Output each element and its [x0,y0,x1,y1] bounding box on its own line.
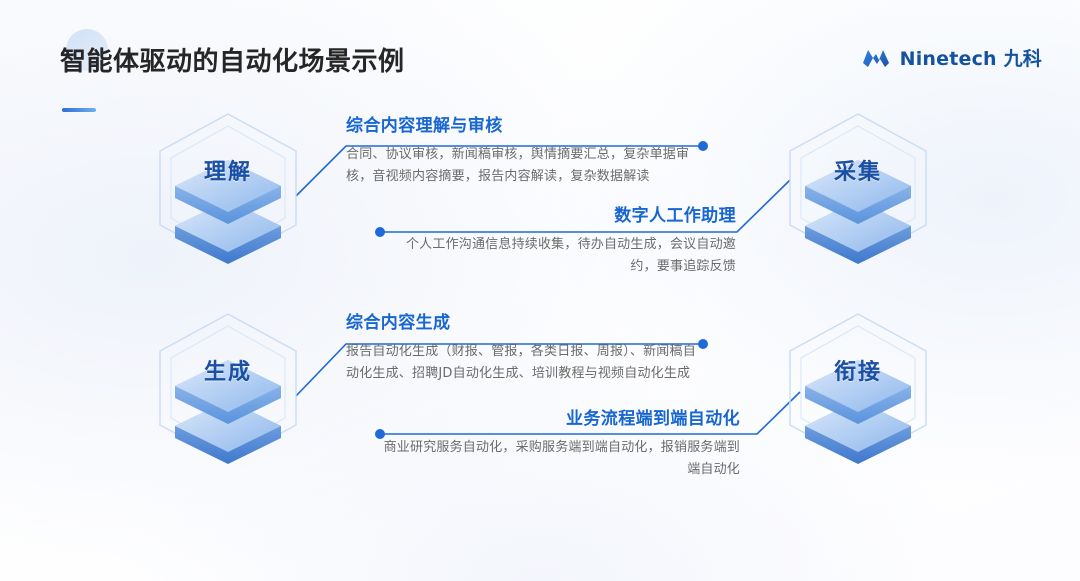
node-label: 理解 [138,154,318,186]
page-title: 智能体驱动的自动化场景示例 [60,41,405,78]
scenario-block-2: 数字人工作助理 个人工作沟通信息持续收集，待办自动生成，会议自动邀约，要事追踪反… [380,206,736,278]
scenario-block-3: 综合内容生成 报告自动化生成（财报、管报，各类日报、周报）、新闻稿自动化生成、招… [346,313,708,385]
scenario-heading: 综合内容理解与审核 [346,116,706,137]
scenario-heading: 业务流程端到端自动化 [380,409,740,430]
node-top-right[interactable]: 采集 [768,108,948,268]
brand-logo: Ninetech 九科 [861,44,1042,71]
node-bottom-right[interactable]: 衔接 [768,308,948,468]
scenario-heading: 数字人工作助理 [380,206,736,227]
title-underline-accent [62,108,96,112]
node-label: 采集 [768,154,948,186]
ninetech-mountain-icon [861,46,891,70]
scenario-body: 合同、协议审核，新闻稿审核，舆情摘要汇总，复杂单据审核，音视频内容摘要，报告内容… [346,144,706,188]
scenario-body: 商业研究服务自动化，采购服务端到端自动化，报销服务端到端自动化 [380,437,740,481]
connector-lines [0,0,1080,581]
scenario-body: 报告自动化生成（财报、管报，各类日报、周报）、新闻稿自动化生成、招聘JD自动化生… [346,341,708,385]
node-top-left[interactable]: 理解 [138,108,318,268]
node-label: 生成 [138,354,318,386]
scenario-block-1: 综合内容理解与审核 合同、协议审核，新闻稿审核，舆情摘要汇总，复杂单据审核，音视… [346,116,706,188]
node-bottom-left[interactable]: 生成 [138,308,318,468]
node-label: 衔接 [768,354,948,386]
scenario-heading: 综合内容生成 [346,313,708,334]
scenario-body: 个人工作沟通信息持续收集，待办自动生成，会议自动邀约，要事追踪反馈 [380,234,736,278]
scenario-block-4: 业务流程端到端自动化 商业研究服务自动化，采购服务端到端自动化，报销服务端到端自… [380,409,740,481]
logo-wordmark: Ninetech 九科 [900,44,1042,71]
